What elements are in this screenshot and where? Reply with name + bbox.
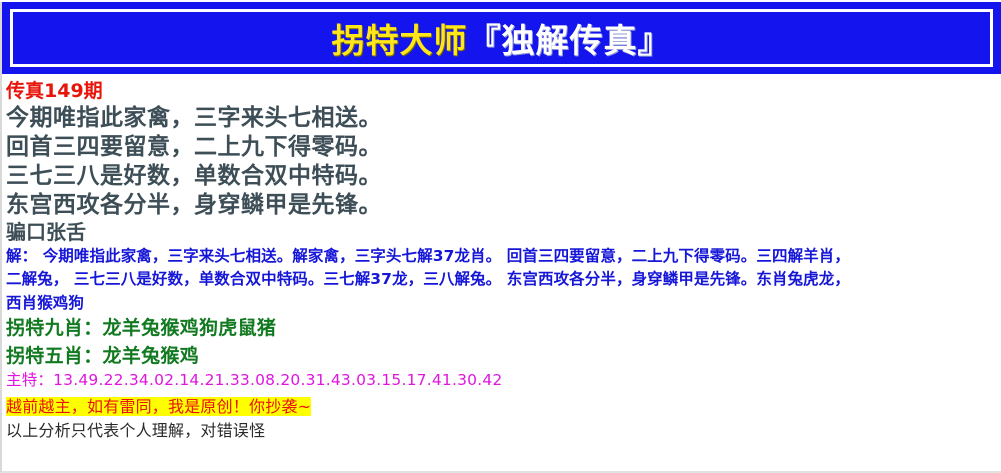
page-title-bracketed: 『独解传真』 — [468, 21, 672, 60]
verse-line-3: 三七三八是好数，单数合双中特码。 — [4, 162, 1001, 191]
main-numbers-line: 主特：13.49.22.34.02.14.21.33.08.20.31.43.0… — [4, 370, 1001, 391]
originality-warning: 越前越主，如有雷同，我是原创！你抄袭~ — [6, 397, 311, 416]
explanation-line-2: 二解兔， 三七三八是好数，单数合双中特码。三七解37龙，三八解兔。 东宫西攻各分… — [4, 267, 1001, 290]
disclaimer-footnote: 以上分析只代表个人理解，对错误怪 — [4, 418, 1001, 442]
issue-title: 传真149期 — [4, 78, 1001, 104]
verse-line-2: 回首三四要留意，二上九下得零码。 — [4, 133, 1001, 162]
zodiac-nine-line: 拐特九肖：龙羊兔猴鸡狗虎鼠猪 — [4, 314, 1001, 342]
document-body: 传真149期 今期唯指此家禽，三字来头七相送。 回首三四要留意，二上九下得零码。… — [2, 74, 1001, 442]
verse-line-4: 东宫西攻各分半，身穿鳞甲是先锋。 — [4, 191, 1001, 220]
verse-line-1: 今期唯指此家禽，三字来头七相送。 — [4, 104, 1001, 133]
page-title: 拐特大师『独解传真』 — [2, 14, 1001, 62]
warning-row: 越前越主，如有雷同，我是原创！你抄袭~ — [4, 391, 1001, 418]
explanation-line-3: 西肖猴鸡狗 — [4, 291, 1001, 314]
header-banner: 拐特大师『独解传真』 — [2, 2, 1001, 74]
zodiac-five-line: 拐特五肖：龙羊兔猴鸡 — [4, 342, 1001, 370]
explanation-line-1: 解： 今期唯指此家禽，三字来头七相送。解家禽，三字头七解37龙肖。 回首三四要留… — [4, 244, 1001, 267]
page-title-primary: 拐特大师 — [332, 21, 468, 60]
riddle-label: 骗口张舌 — [4, 220, 1001, 244]
